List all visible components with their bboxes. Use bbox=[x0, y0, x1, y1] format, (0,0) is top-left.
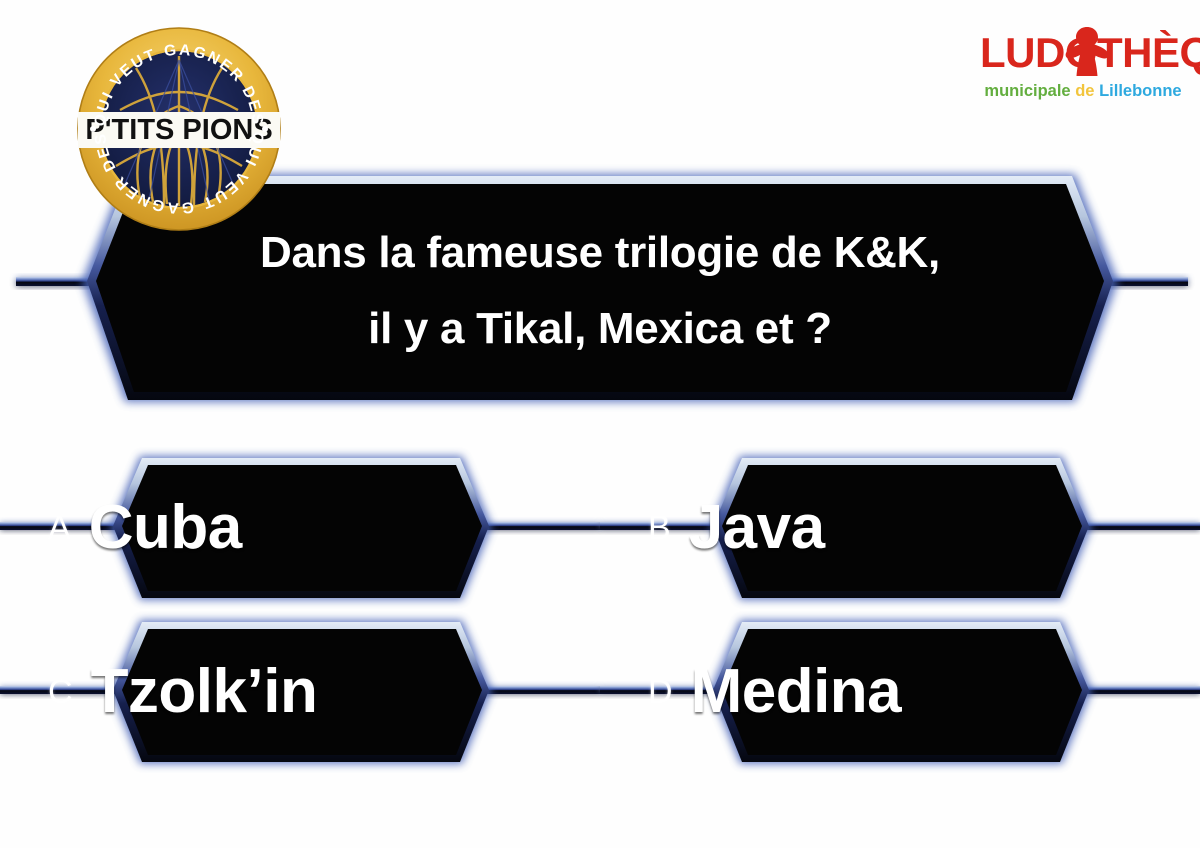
subtitle-word-de: de bbox=[1075, 82, 1094, 100]
answer-connector-left bbox=[0, 522, 122, 530]
qvgdp-show-logo: P'TITS PIONS QUI VEUT GAGNER DES QUI VEU… bbox=[76, 26, 282, 232]
subtitle-word-lillebonne: Lillebonne bbox=[1099, 82, 1182, 100]
logo-dot-left bbox=[90, 126, 96, 132]
ludotheque-wordmark: LUDOTHÈQUE bbox=[980, 28, 1186, 78]
subtitle-word-municipale: municipale bbox=[984, 82, 1070, 100]
answer-option-a[interactable]: A Cuba bbox=[0, 438, 600, 618]
ludotheque-sponsor-logo: LUDOTHÈQUE municipale de Lillebonne bbox=[980, 28, 1186, 116]
answer-option-b[interactable]: B Java bbox=[600, 438, 1200, 618]
answer-connector-left bbox=[0, 686, 122, 694]
answer-connector-left bbox=[600, 686, 722, 694]
logo-dot-right bbox=[262, 126, 268, 132]
ludotheque-subtitle: municipale de Lillebonne bbox=[980, 80, 1186, 102]
logo-center-text: P'TITS PIONS bbox=[85, 114, 272, 146]
meeple-pawn-icon bbox=[1064, 26, 1110, 78]
answer-option-c[interactable]: C Tzolk’in bbox=[0, 602, 600, 782]
answer-connector-left bbox=[600, 522, 722, 530]
answer-option-d[interactable]: D Medina bbox=[600, 602, 1200, 782]
